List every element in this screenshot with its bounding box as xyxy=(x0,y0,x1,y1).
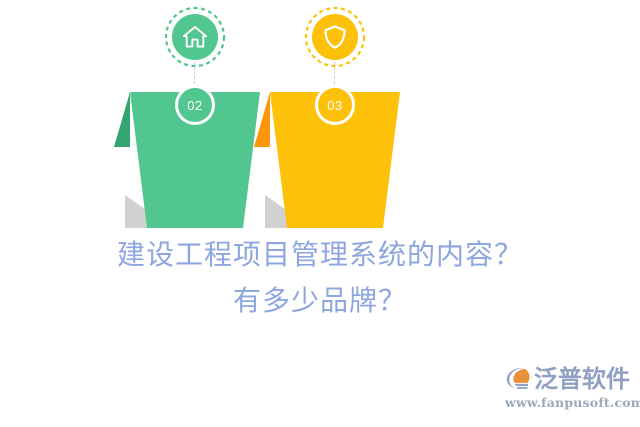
headline: 建设工程项目管理系统的内容？ 有多少品牌？ xyxy=(0,232,640,324)
step-02-number-badge[interactable]: 02 xyxy=(175,85,215,125)
step-03-number-badge[interactable]: 03 xyxy=(315,85,355,125)
fanpu-swoosh-logo-icon xyxy=(503,365,533,393)
logo-url: www.fanpusoft.com xyxy=(503,395,637,410)
headline-line-1: 建设工程项目管理系统的内容？ xyxy=(0,232,640,278)
logo-wordmark: 泛普软件 xyxy=(534,365,630,393)
step-03-icon-circle[interactable] xyxy=(312,14,358,60)
step-03-connector xyxy=(334,62,335,84)
step-02-number-label: 02 xyxy=(187,98,202,113)
headline-line-2: 有多少品牌？ xyxy=(0,278,640,324)
brand-logo[interactable]: 泛普软件 www.fanpusoft.com xyxy=(503,364,637,412)
infographic-group: 02 xyxy=(0,0,640,240)
banner-unit-03: 03 xyxy=(180,0,480,240)
logo-row: 泛普软件 xyxy=(503,364,637,394)
home-icon xyxy=(182,25,208,49)
slide-canvas: 02 xyxy=(0,0,640,427)
shield-icon xyxy=(323,24,347,50)
step-03-number-label: 03 xyxy=(327,98,342,113)
